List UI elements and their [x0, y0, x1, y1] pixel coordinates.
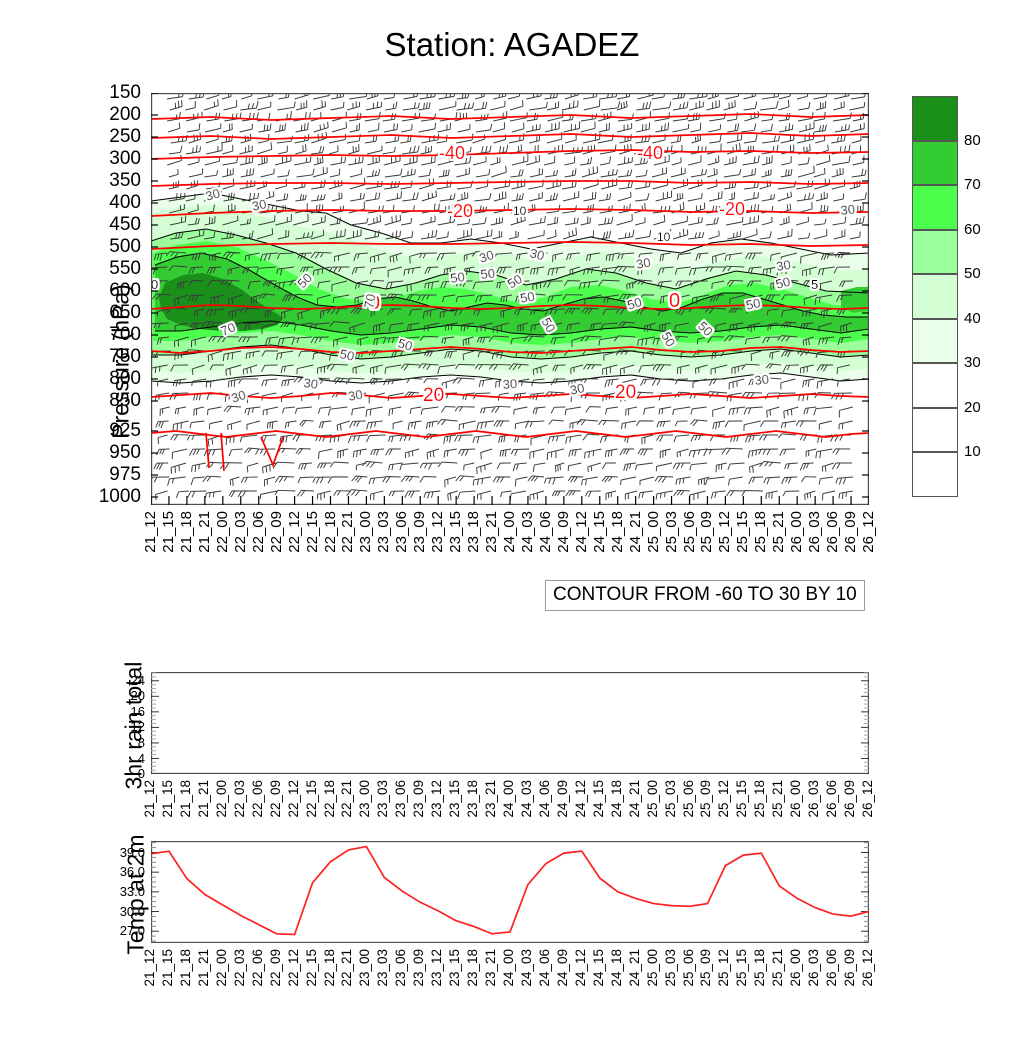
x-tick-label: 25_15: [735, 511, 750, 553]
colorbar-tick-label: 30: [964, 354, 981, 371]
colorbar-tick-label: 80: [964, 132, 981, 149]
x-tick-label: 26_06: [825, 511, 840, 553]
x-tick-label: 21_21: [197, 511, 212, 553]
x-tick-label: 23_12: [430, 780, 444, 818]
colorbar-tick-label: 40: [964, 310, 981, 327]
x-tick-label: 26_09: [843, 780, 857, 818]
temp-y-tick: 30.0: [93, 905, 145, 918]
x-tick-label: 22_18: [323, 949, 337, 987]
svg-text:10: 10: [657, 230, 671, 244]
main-y-tick: 350: [79, 171, 141, 190]
x-tick-label: 25_06: [682, 511, 697, 553]
main-y-tick: 1000: [79, 487, 141, 506]
isotherm-label--20-a: -20: [447, 201, 473, 221]
main-y-tick: 800: [79, 369, 141, 388]
x-tick-label: 24_03: [520, 511, 535, 553]
x-tick-label: 26_09: [843, 511, 858, 553]
main-y-tick: 750: [79, 347, 141, 366]
x-tick-label: 23_21: [484, 780, 498, 818]
main-y-tick: 400: [79, 193, 141, 212]
x-tick-label: 26_12: [861, 511, 876, 553]
x-tick-label: 22_09: [269, 949, 283, 987]
isotherm-label--40-a: -40: [439, 143, 465, 163]
x-tick-label: 22_12: [287, 780, 301, 818]
temp-y-tick: 39.0: [93, 846, 145, 859]
x-tick-label: 21_12: [143, 511, 158, 553]
colorbar-band: [912, 452, 958, 497]
x-tick-label: 24_00: [502, 780, 516, 818]
x-tick-label: 25_06: [682, 780, 696, 818]
x-tick-label: 24_15: [592, 511, 607, 553]
x-tick-label: 22_06: [251, 949, 265, 987]
x-tick-label: 21_12: [143, 949, 157, 987]
x-tick-label: 24_18: [610, 780, 624, 818]
x-tick-label: 23_21: [484, 511, 499, 553]
x-tick-label: 23_09: [412, 780, 426, 818]
x-tick-label: 23_18: [466, 511, 481, 553]
x-tick-label: 24_12: [574, 949, 588, 987]
x-tick-label: 24_06: [538, 511, 553, 553]
cross-section-plot: -40 -40 -20 -20 0 0 20 20 10 10 30 30 30…: [151, 93, 869, 505]
svg-text:30: 30: [840, 202, 856, 218]
x-tick-label: 25_06: [682, 949, 696, 987]
colorbar-tick-label: 70: [964, 176, 981, 193]
x-tick-label: 26_03: [807, 780, 821, 818]
main-y-tick: 150: [79, 83, 141, 102]
main-y-tick: 925: [79, 421, 141, 440]
x-tick-label: 26_03: [807, 511, 822, 553]
x-tick-label: 22_06: [251, 780, 265, 818]
x-tick-label: 24_21: [628, 780, 642, 818]
svg-text:30: 30: [754, 372, 770, 388]
main-y-tick: 600: [79, 281, 141, 300]
x-tick-label: 23_09: [412, 949, 426, 987]
temp-y-tick: 27.0: [93, 924, 145, 937]
svg-text:10: 10: [513, 204, 527, 218]
x-tick-label: 24_00: [502, 949, 516, 987]
x-tick-label: 25_09: [699, 511, 714, 553]
isotherm-label--20-b: -20: [719, 199, 745, 219]
x-tick-label: 24_09: [556, 949, 570, 987]
x-tick-label: 25_18: [753, 511, 768, 553]
isotherm-label-20-b: 20: [615, 382, 636, 403]
x-tick-label: 23_15: [448, 511, 463, 553]
x-tick-label: 22_03: [233, 780, 247, 818]
rain-y-tick: 24: [111, 674, 145, 687]
colorbar: 8070605040302010: [912, 96, 958, 497]
x-tick-label: 22_00: [215, 511, 230, 553]
rain-y-tick: 20: [111, 689, 145, 702]
colorbar-band: [912, 141, 958, 186]
x-tick-label: 23_00: [358, 511, 373, 553]
x-tick-label: 25_12: [717, 949, 731, 987]
x-tick-label: 23_15: [448, 780, 462, 818]
x-tick-label: 22_06: [251, 511, 266, 553]
rain-plot: [151, 672, 869, 774]
svg-text:50: 50: [745, 295, 762, 313]
x-tick-label: 24_21: [628, 511, 643, 553]
x-tick-label: 26_09: [843, 949, 857, 987]
colorbar-band: [912, 96, 958, 141]
colorbar-band: [912, 230, 958, 275]
x-tick-label: 26_06: [825, 949, 839, 987]
x-tick-label: 24_18: [610, 949, 624, 987]
main-y-tick: 500: [79, 237, 141, 256]
colorbar-tick-label: 60: [964, 221, 981, 238]
svg-text:30: 30: [303, 375, 319, 392]
x-tick-label: 22_00: [215, 780, 229, 818]
x-tick-label: 22_00: [215, 949, 229, 987]
x-tick-label: 23_00: [358, 780, 372, 818]
main-y-tick: 950: [79, 443, 141, 462]
rain-y-tick: 16: [111, 705, 145, 718]
x-tick-label: 22_15: [305, 780, 319, 818]
x-tick-label: 25_15: [735, 949, 749, 987]
x-tick-label: 24_09: [556, 780, 570, 818]
x-tick-label: 22_12: [287, 949, 301, 987]
x-tick-label: 25_03: [664, 949, 678, 987]
x-tick-label: 22_21: [340, 780, 354, 818]
x-tick-label: 22_21: [340, 949, 354, 987]
svg-text:30: 30: [775, 257, 791, 274]
x-tick-label: 25_09: [699, 780, 713, 818]
x-tick-label: 25_18: [753, 780, 767, 818]
rain-panel: 3hr rain total 04812162024 21_1221_1521_…: [151, 672, 869, 774]
x-tick-label: 23_12: [430, 511, 445, 553]
colorbar-band: [912, 319, 958, 364]
svg-text:30: 30: [569, 380, 586, 398]
x-tick-label: 25_00: [646, 511, 661, 553]
colorbar-tick-label: 20: [964, 399, 981, 416]
colorbar-band: [912, 363, 958, 408]
x-tick-label: 22_03: [233, 511, 248, 553]
x-tick-label: 21_21: [197, 780, 211, 818]
colorbar-band: [912, 274, 958, 319]
x-tick-label: 22_09: [269, 511, 284, 553]
isotherm-label-20-a: 20: [423, 385, 444, 406]
main-y-tick: 700: [79, 325, 141, 344]
x-tick-label: 24_12: [574, 511, 589, 553]
x-tick-label: 26_12: [861, 780, 875, 818]
x-tick-label: 21_15: [161, 780, 175, 818]
rain-y-tick: 12: [111, 720, 145, 733]
svg-text:30: 30: [635, 255, 652, 272]
x-tick-label: 21_18: [179, 780, 193, 818]
x-tick-label: 23_00: [358, 949, 372, 987]
svg-text:50: 50: [338, 346, 355, 364]
main-y-tick: 550: [79, 259, 141, 278]
x-tick-label: 24_12: [574, 780, 588, 818]
time-height-cross-section-panel: -40 -40 -20 -20 0 0 20 20 10 10 30 30 30…: [151, 93, 869, 505]
x-tick-label: 22_15: [305, 949, 319, 987]
x-tick-label: 23_18: [466, 780, 480, 818]
x-tick-label: 21_15: [161, 511, 176, 553]
x-tick-label: 25_12: [717, 511, 732, 553]
main-y-tick: 975: [79, 465, 141, 484]
x-tick-label: 22_12: [287, 511, 302, 553]
x-tick-label: 24_18: [610, 511, 625, 553]
svg-text:70: 70: [361, 293, 378, 310]
main-y-tick: 200: [79, 105, 141, 124]
x-tick-label: 23_06: [394, 949, 408, 987]
colorbar-band: [912, 408, 958, 453]
x-tick-label: 24_03: [520, 949, 534, 987]
x-tick-label: 24_09: [556, 511, 571, 553]
x-tick-label: 22_18: [323, 511, 338, 553]
x-tick-label: 23_03: [376, 949, 390, 987]
x-tick-label: 26_12: [861, 949, 875, 987]
x-tick-label: 25_18: [753, 949, 767, 987]
x-tick-label: 26_00: [789, 780, 803, 818]
colorbar-band: [912, 185, 958, 230]
x-tick-label: 23_03: [376, 780, 390, 818]
rain-y-tick: 8: [111, 736, 145, 749]
x-tick-label: 25_15: [735, 780, 749, 818]
x-tick-label: 21_18: [179, 949, 193, 987]
x-tick-label: 25_21: [771, 949, 785, 987]
x-tick-label: 23_06: [394, 511, 409, 553]
x-tick-label: 26_00: [789, 949, 803, 987]
x-tick-label: 24_21: [628, 949, 642, 987]
x-tick-label: 25_12: [717, 780, 731, 818]
x-tick-label: 25_03: [664, 780, 678, 818]
colorbar-tick-label: 10: [964, 443, 981, 460]
main-y-tick: 850: [79, 391, 141, 410]
x-tick-label: 23_21: [484, 949, 498, 987]
svg-text:30: 30: [251, 196, 268, 214]
x-tick-label: 26_00: [789, 511, 804, 553]
svg-text:30: 30: [502, 376, 517, 392]
temp-y-tick: 36.0: [93, 865, 145, 878]
svg-text:50: 50: [449, 269, 465, 286]
x-tick-label: 24_00: [502, 511, 517, 553]
main-y-tick: 300: [79, 149, 141, 168]
main-y-tick: 650: [79, 303, 141, 322]
x-tick-label: 24_06: [538, 949, 552, 987]
x-tick-label: 25_21: [771, 780, 785, 818]
contour-range-note: CONTOUR FROM -60 TO 30 BY 10: [545, 580, 865, 611]
x-tick-label: 21_15: [161, 949, 175, 987]
main-y-tick: 250: [79, 127, 141, 146]
x-tick-label: 25_00: [646, 780, 660, 818]
x-tick-label: 23_18: [466, 949, 480, 987]
x-tick-label: 22_15: [305, 511, 320, 553]
x-tick-label: 24_03: [520, 780, 534, 818]
x-tick-label: 23_15: [448, 949, 462, 987]
main-y-tick: 450: [79, 215, 141, 234]
x-tick-label: 21_18: [179, 511, 194, 553]
x-tick-label: 24_15: [592, 949, 606, 987]
svg-text:30: 30: [347, 387, 364, 404]
x-tick-label: 22_18: [323, 780, 337, 818]
x-tick-label: 22_21: [340, 511, 355, 553]
svg-text:50: 50: [480, 266, 496, 282]
temp-panel: Temp at 2m 27.030.033.036.039.0 21_1221_…: [151, 841, 869, 943]
x-tick-label: 25_00: [646, 949, 660, 987]
x-tick-label: 25_21: [771, 511, 786, 553]
x-tick-label: 23_06: [394, 780, 408, 818]
colorbar-tick-label: 50: [964, 265, 981, 282]
isotherm-label-0-b: 0: [669, 290, 680, 312]
x-tick-label: 23_12: [430, 949, 444, 987]
x-tick-label: 23_03: [376, 511, 391, 553]
x-tick-label: 22_09: [269, 780, 283, 818]
x-tick-label: 23_09: [412, 511, 427, 553]
page-title: Station: AGADEZ: [0, 26, 1024, 64]
svg-text:50: 50: [519, 289, 536, 306]
temp-plot: [151, 841, 869, 943]
temp-y-tick: 33.0: [93, 885, 145, 898]
x-tick-label: 26_06: [825, 780, 839, 818]
x-tick-label: 21_21: [197, 949, 211, 987]
x-tick-label: 24_15: [592, 780, 606, 818]
x-tick-label: 24_06: [538, 780, 552, 818]
x-tick-label: 25_03: [664, 511, 679, 553]
x-tick-label: 22_03: [233, 949, 247, 987]
x-tick-label: 25_09: [699, 949, 713, 987]
isotherm-label--40-b: -40: [637, 143, 663, 163]
x-tick-label: 26_03: [807, 949, 821, 987]
